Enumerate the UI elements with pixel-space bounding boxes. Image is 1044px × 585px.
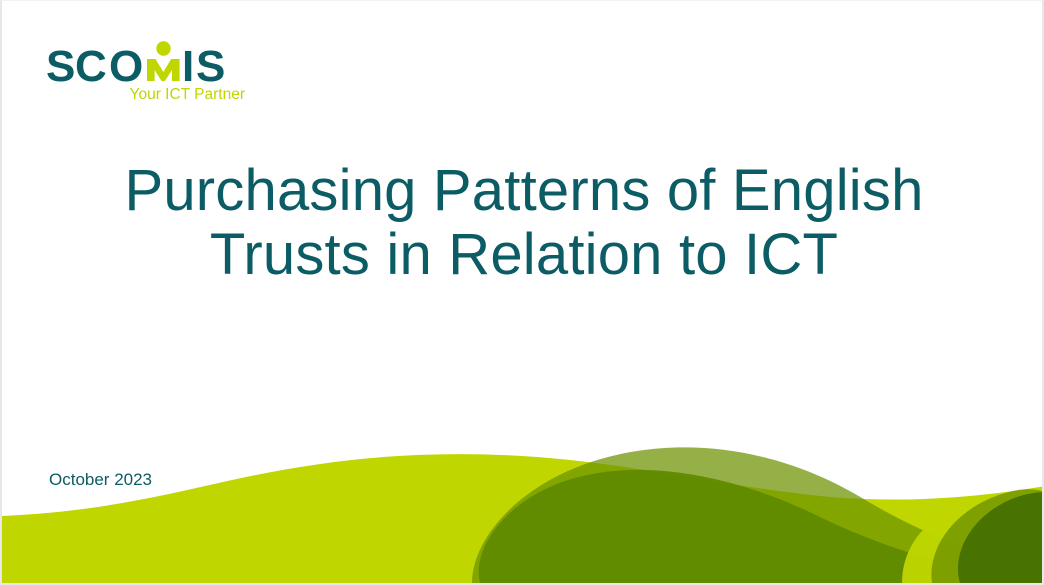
- logo-letter-c: C: [75, 42, 106, 91]
- slide-date: October 2023: [49, 469, 152, 491]
- logo-letter-s2: S: [196, 42, 224, 91]
- logo-letter-s: S: [46, 42, 74, 91]
- logo-letter-i: I: [182, 42, 193, 91]
- logo-tagline: Your ICT Partner: [130, 86, 245, 103]
- logo-letter-o: O: [109, 42, 142, 91]
- scomis-logo-mark: S C O I S Your ICT Partner: [46, 39, 246, 107]
- title-slide: S C O I S Your ICT Partner Purchasing Pa…: [0, 0, 1044, 585]
- page-title: Purchasing Patterns of English Trusts in…: [62, 159, 986, 287]
- title-line-2: Trusts in Relation to ICT: [62, 223, 986, 287]
- logo-letter-m-figure: [147, 41, 180, 81]
- green-wave-graphic: [2, 438, 1044, 583]
- title-line-1: Purchasing Patterns of English: [62, 159, 986, 223]
- scomis-logo[interactable]: S C O I S Your ICT Partner: [46, 39, 246, 107]
